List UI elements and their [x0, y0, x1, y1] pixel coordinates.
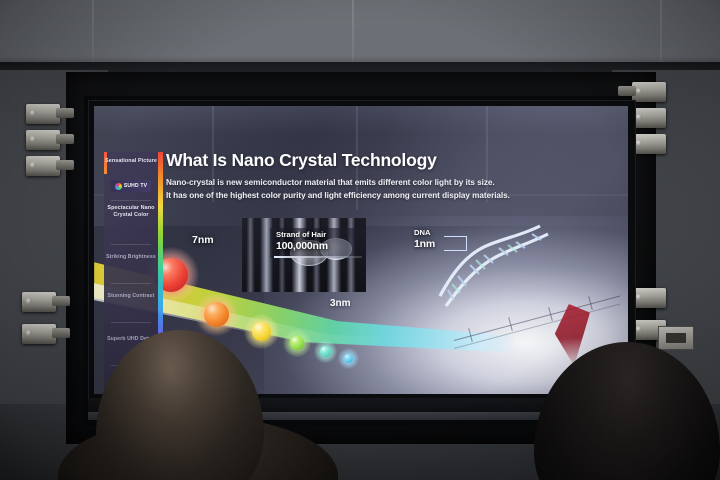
dna-measure-bracket	[444, 236, 467, 251]
label-3nm: 3nm	[330, 298, 351, 309]
sidebar-divider	[111, 283, 151, 284]
mount-hinge	[26, 156, 60, 176]
mount-hinge	[632, 82, 666, 102]
sidebar-divider	[111, 244, 151, 245]
suhd-tv-logo-text: SUHD TV	[124, 183, 147, 189]
label-7nm: 7nm	[192, 234, 214, 246]
mount-hinge	[22, 292, 56, 312]
mount-hinge	[26, 130, 60, 150]
quantum-dot-3nm	[344, 354, 353, 363]
suhd-s-mark-icon	[115, 183, 122, 190]
mount-hinge	[632, 288, 666, 308]
slide-headline: What Is Nano Crystal Technology	[166, 150, 437, 171]
quantum-dot-4nm	[290, 336, 304, 350]
hair-label-underline	[274, 256, 362, 258]
mount-hinge	[632, 108, 666, 128]
slide-body-line-2: It has one of the highest color purity a…	[166, 191, 510, 200]
wall-socket-box	[658, 326, 694, 350]
label-dna-value: 1nm	[414, 238, 435, 250]
sidebar-item-striking-brightness[interactable]: Striking Brightness	[104, 254, 158, 260]
mount-hinge	[22, 324, 56, 344]
sidebar-divider	[111, 322, 151, 323]
showroom-scene: 7nm 3nm Strand of Hair 100,000nm DNA 1nm…	[0, 0, 720, 480]
suhd-tv-logo: SUHD TV	[111, 180, 151, 192]
quantum-dot-5nm	[252, 322, 271, 341]
label-hair-title: Strand of Hair	[276, 230, 326, 239]
sidebar-item-stunning-contrast[interactable]: Stunning Contrast	[104, 293, 158, 299]
quantum-dot-3-5nm	[320, 346, 331, 357]
label-hair-value: 100,000nm	[276, 240, 328, 252]
slide-body-line-1: Nano-crystal is new semiconductor materi…	[166, 178, 495, 187]
quantum-dot-6nm	[204, 302, 229, 327]
label-dna-title: DNA	[414, 228, 430, 237]
sidebar-item-sensational-picture[interactable]: Sensational Picture	[104, 158, 158, 165]
mount-hinge	[632, 134, 666, 154]
mount-hinge	[26, 104, 60, 124]
reflection-line	[486, 106, 488, 202]
sidebar-item-spectacular-nano-crystal-color[interactable]: Spectacular Nano Crystal Color	[104, 205, 158, 218]
sidebar-divider	[111, 200, 151, 201]
